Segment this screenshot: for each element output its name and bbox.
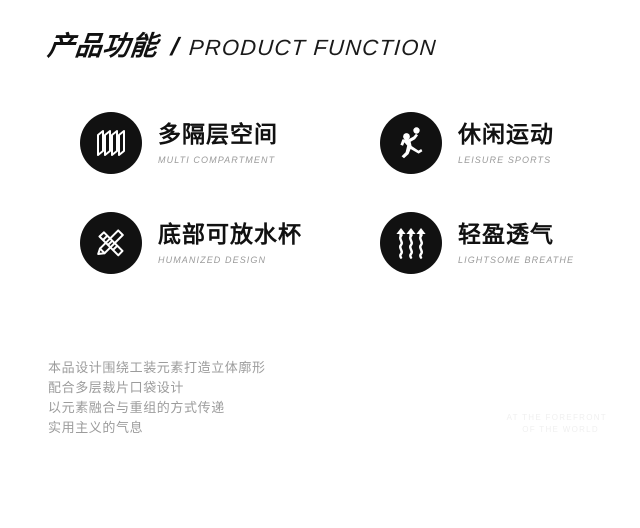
feature-label-en: HUMANIZED DESIGN [158,255,302,265]
feature-label-en: LEISURE SPORTS [458,155,554,165]
page-title: 产品功能 / PRODUCT FUNCTION [48,24,437,63]
feature-row: 底部可放水杯 HUMANIZED DESIGN [0,212,640,274]
watermark-line-2: OF THE WORLD [507,424,607,436]
feature-label-cn: 休闲运动 [458,121,554,147]
feature-row: 多隔层空间 MULTI COMPARTMENT 休闲运动 LEISURE SPO… [0,112,640,174]
description-line: 配合多层裁片口袋设计 [48,378,266,398]
feature-grid: 多隔层空间 MULTI COMPARTMENT 休闲运动 LEISURE SPO… [0,112,640,312]
page-title-cn: 产品功能 [46,24,160,63]
feature-item-lightsome-breathe: 轻盈透气 LIGHTSOME BREATHE [300,212,600,274]
feature-label-cn: 轻盈透气 [458,221,574,247]
title-separator: / [169,33,179,62]
feature-label-en: MULTI COMPARTMENT [158,155,278,165]
page-title-en: PRODUCT FUNCTION [188,35,438,61]
feature-text: 底部可放水杯 HUMANIZED DESIGN [158,221,302,264]
pencil-ruler-icon [80,212,142,274]
description-line: 实用主义的气息 [48,418,266,438]
feature-label-en: LIGHTSOME BREATHE [458,255,574,265]
feature-label-cn: 底部可放水杯 [158,221,302,247]
feature-item-leisure-sports: 休闲运动 LEISURE SPORTS [300,112,600,174]
feature-text: 休闲运动 LEISURE SPORTS [458,121,554,164]
feature-text: 多隔层空间 MULTI COMPARTMENT [158,121,278,164]
feature-item-multi-compartment: 多隔层空间 MULTI COMPARTMENT [0,112,300,174]
description-line: 以元素融合与重组的方式传递 [48,398,266,418]
watermark: AT THE FOREFRONT OF THE WORLD [507,412,607,436]
description-paragraph: 本品设计围绕工装元素打造立体廓形 配合多层裁片口袋设计 以元素融合与重组的方式传… [48,358,266,438]
badminton-player-icon [380,112,442,174]
feature-label-cn: 多隔层空间 [158,121,278,147]
watermark-line-1: AT THE FOREFRONT [507,412,607,424]
description-line: 本品设计围绕工装元素打造立体廓形 [48,358,266,378]
feature-item-humanized-design: 底部可放水杯 HUMANIZED DESIGN [0,212,300,274]
airflow-arrows-icon [380,212,442,274]
feature-text: 轻盈透气 LIGHTSOME BREATHE [458,221,574,264]
layers-icon [80,112,142,174]
